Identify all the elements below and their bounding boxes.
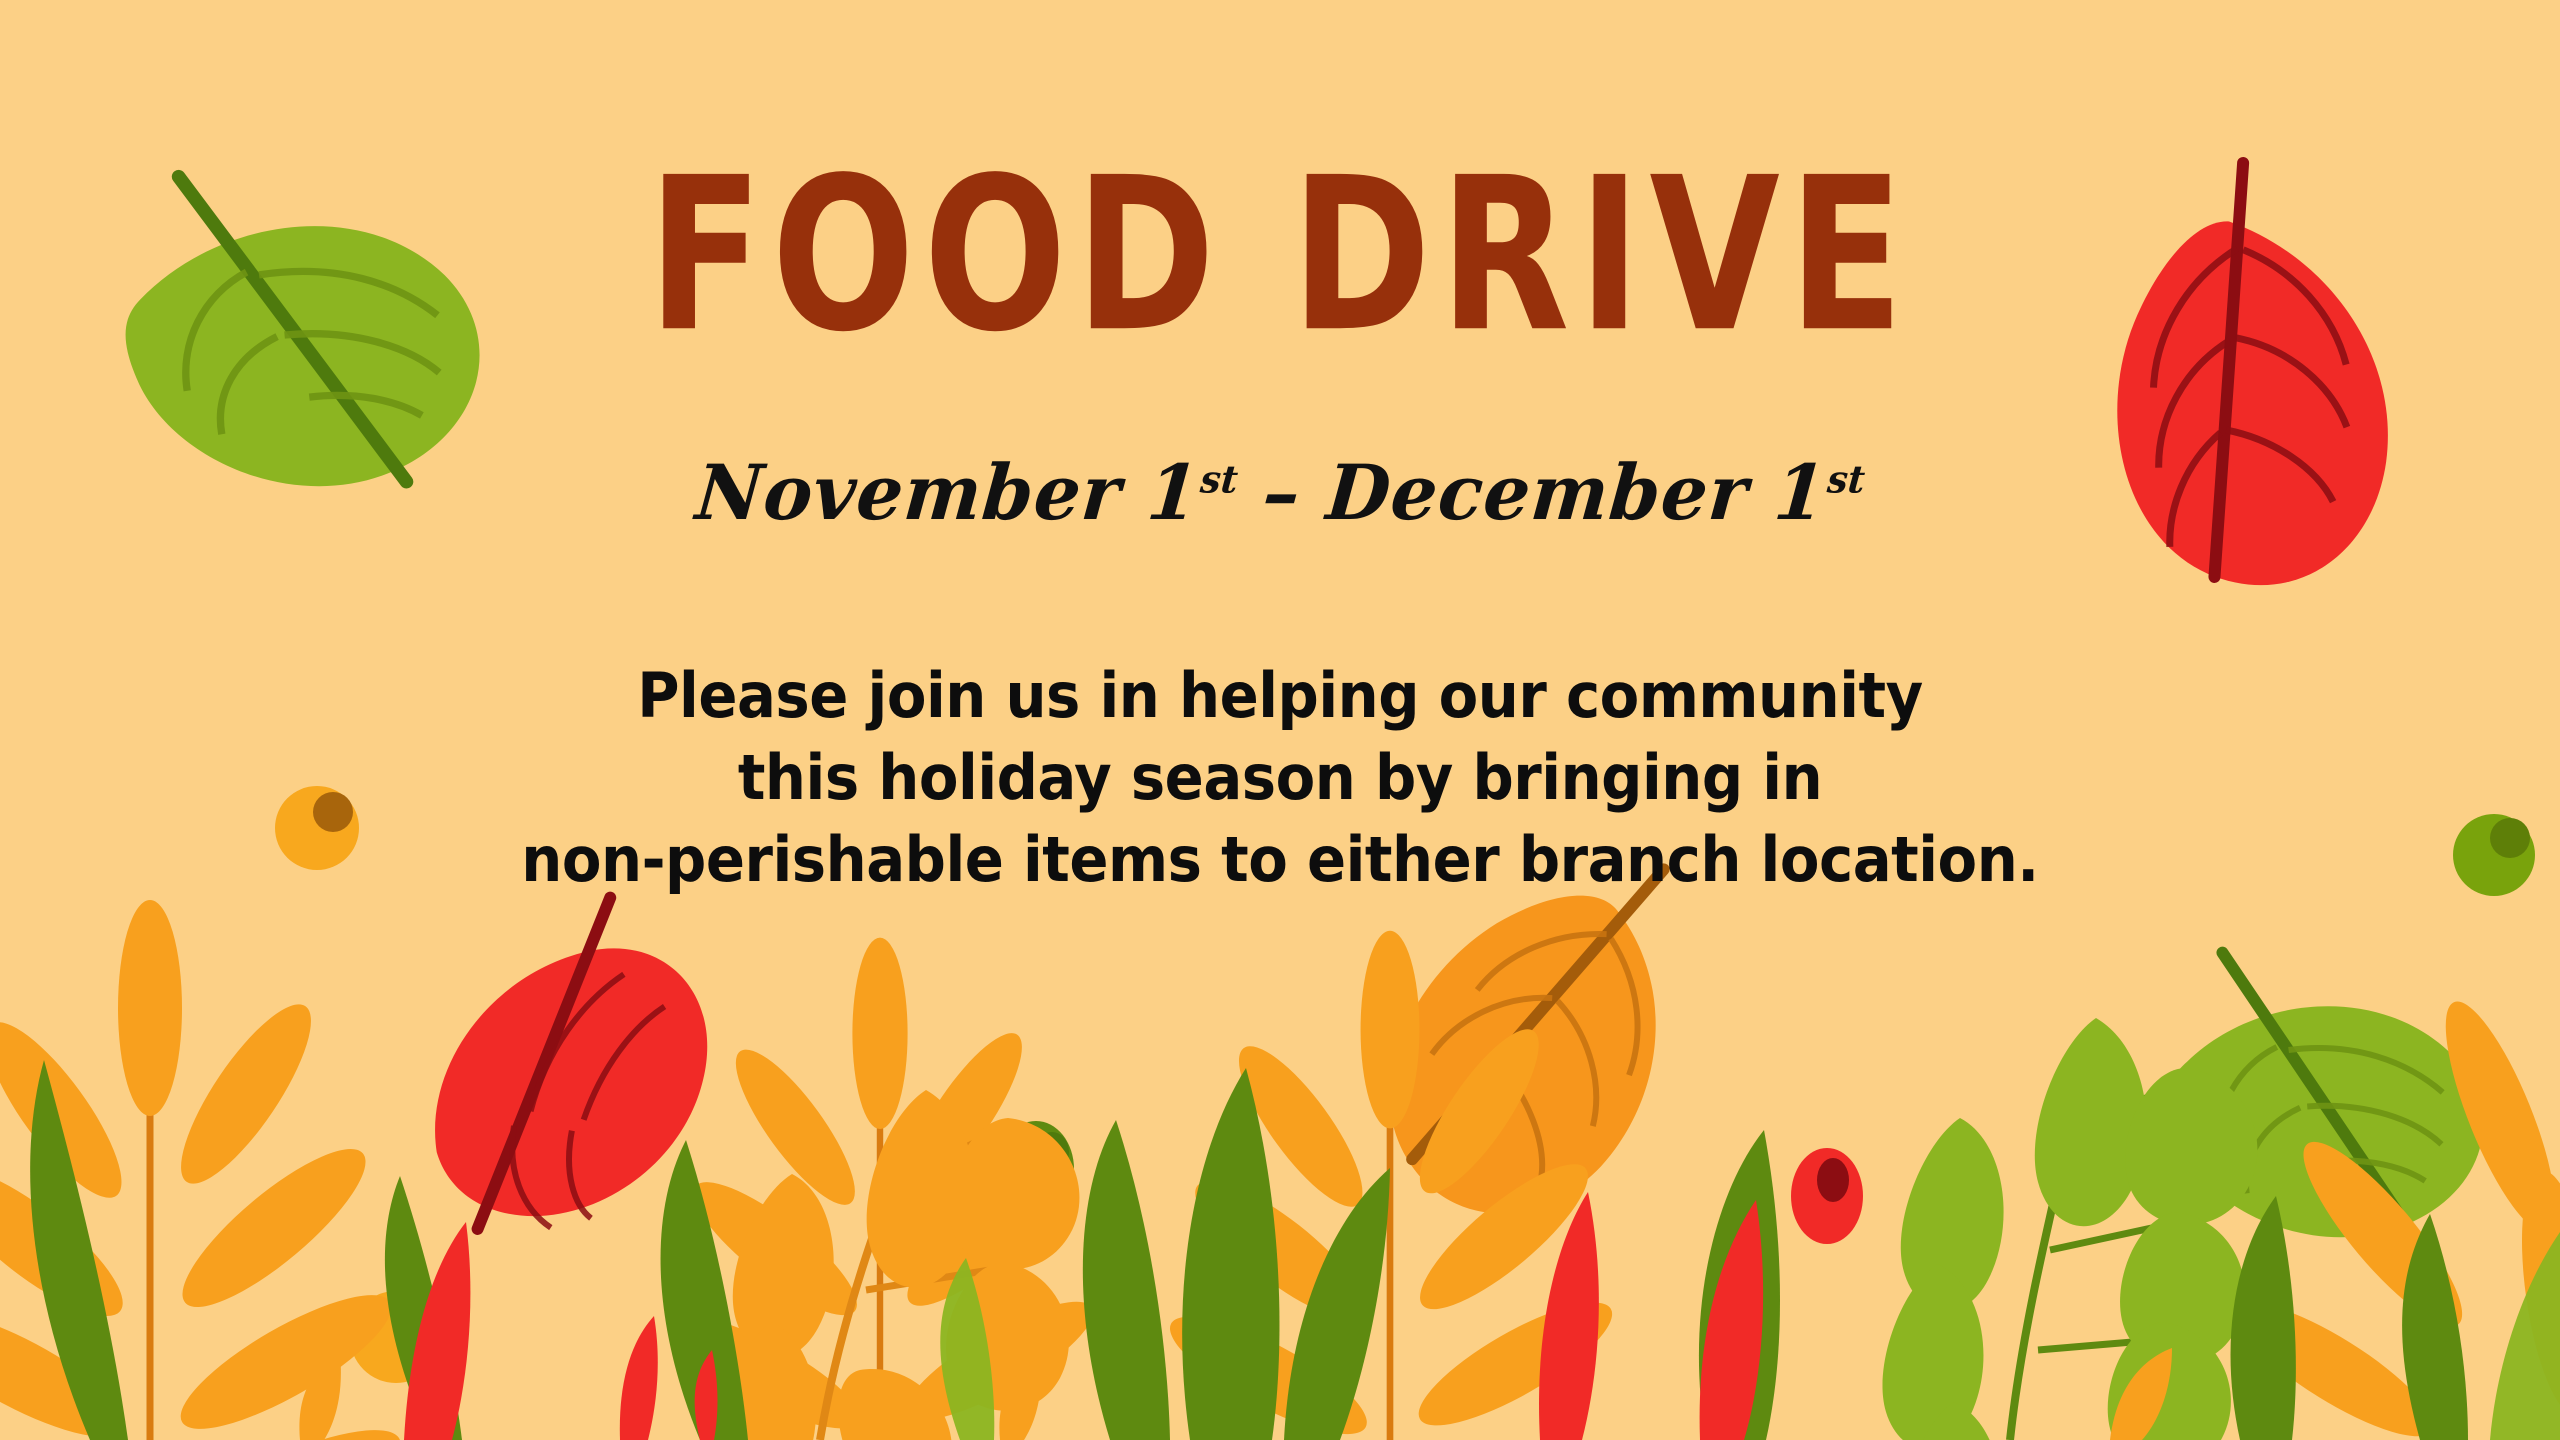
date-end-day: 1 xyxy=(1771,448,1830,537)
frond-orange-right xyxy=(1156,931,1626,1440)
page-title: FOOD DRIVE xyxy=(179,150,2381,362)
accent-orange-bottom xyxy=(299,1348,2172,1440)
food-drive-poster: FOOD DRIVE November 1st – December 1st P… xyxy=(0,0,2560,1440)
blade-green-cluster xyxy=(30,1060,2468,1440)
date-end-month: December xyxy=(1323,448,1752,537)
body-line-1: Please join us in helping our community xyxy=(90,655,2471,737)
body-line-3: non-perishable items to either branch lo… xyxy=(90,819,2471,901)
leaf-red-mid-left xyxy=(366,891,766,1276)
berry-green-center xyxy=(998,1121,1074,1217)
blade-green-light-cluster xyxy=(940,1232,2560,1440)
frond-orange-far-right xyxy=(2219,990,2560,1440)
date-end-suffix: st xyxy=(1826,457,1867,502)
branch-green-teardrop xyxy=(1882,1018,2257,1440)
berry-orange-bottom xyxy=(350,1291,442,1383)
frond-orange-center xyxy=(656,938,1107,1440)
body-line-2: this holiday season by bringing in xyxy=(90,737,2471,819)
date-start-month: November xyxy=(693,448,1125,537)
date-range: November 1st – December 1st xyxy=(48,455,2512,531)
body-copy: Please join us in helping our community … xyxy=(90,655,2471,901)
date-start-day: 1 xyxy=(1144,448,1203,537)
branch-orange-teardrop xyxy=(718,1090,1079,1440)
date-start-suffix: st xyxy=(1199,457,1240,502)
frond-orange-left xyxy=(0,900,413,1440)
leaf-green-right xyxy=(2129,943,2515,1290)
berry-red-bottom xyxy=(1791,1148,1863,1244)
blade-red-cluster xyxy=(404,1192,1763,1440)
